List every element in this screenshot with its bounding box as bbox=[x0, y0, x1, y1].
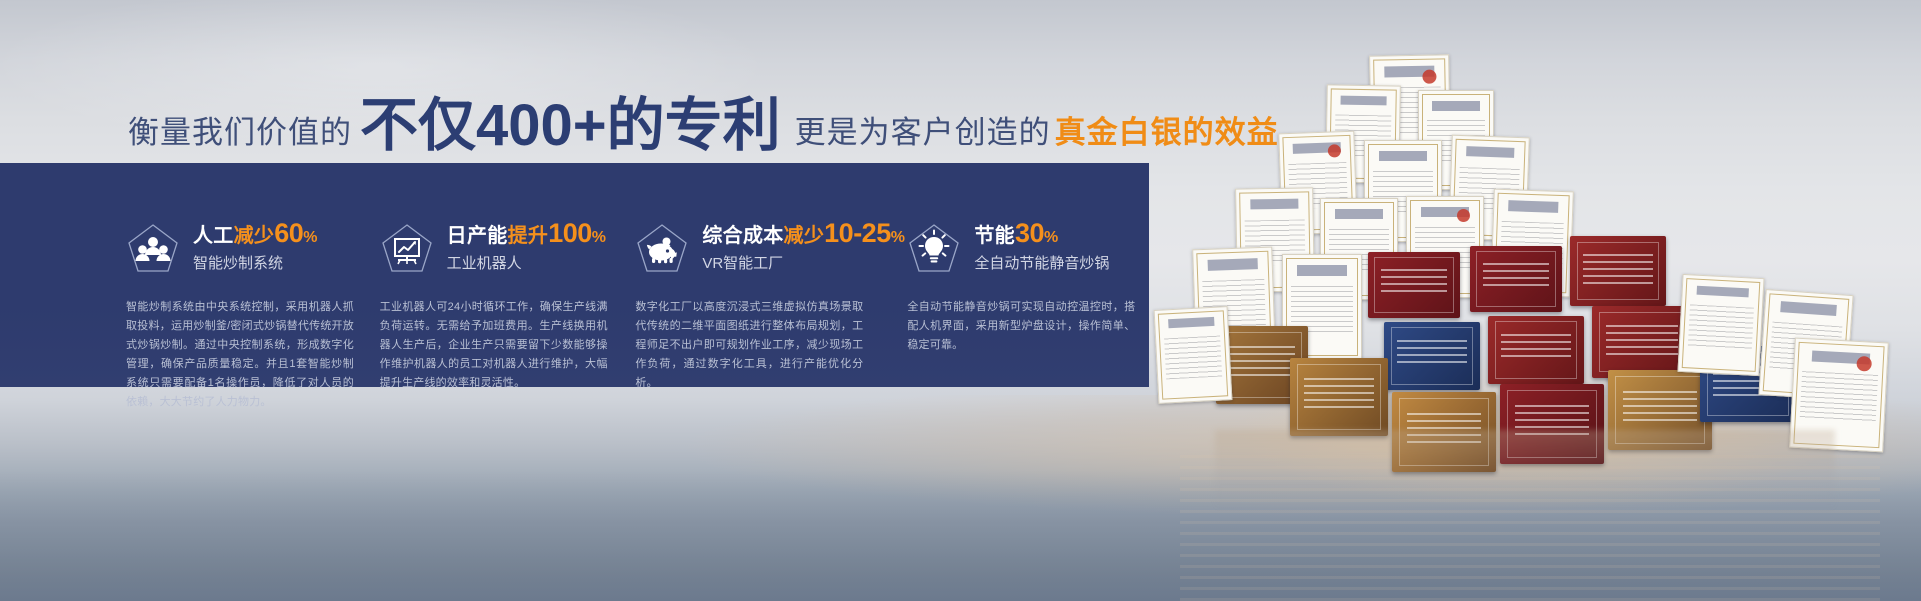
feature-body: 工业机器人可24小时循环工作，确保生产线满负荷运转。无需给予加班费用。生产线换用… bbox=[380, 298, 608, 393]
feature-title-prefix: 人工 bbox=[193, 225, 234, 247]
feature-title: 日产能提升100% bbox=[447, 221, 607, 250]
feature-header: 人工减少60% 智能炒制系统 bbox=[126, 218, 368, 280]
feature-title: 人工减少60% bbox=[193, 221, 318, 250]
feature-title-prefix: 日产能 bbox=[447, 225, 508, 247]
chart-presentation-icon bbox=[380, 222, 434, 276]
feature-title-percent: % bbox=[303, 229, 318, 246]
feature-title-percent: % bbox=[1044, 229, 1059, 246]
headline-prefix: 衡量我们价值的 bbox=[128, 107, 352, 152]
feature-header: 综合成本减少10-25% VR智能工厂 bbox=[635, 218, 893, 280]
feature-item-energy: 节能30% 全自动节能静音炒锅 全自动节能静音炒锅可实现自动控温控时，搭配人机界… bbox=[907, 163, 1149, 387]
award-plaque bbox=[1488, 316, 1584, 384]
award-plaque bbox=[1368, 252, 1460, 318]
feature-item-cost: 综合成本减少10-25% VR智能工厂 数字化工厂以高度沉浸式三维虚拟仿真场景取… bbox=[635, 163, 893, 387]
feature-titles: 日产能提升100% 工业机器人 bbox=[447, 221, 607, 278]
feature-subtitle: VR智能工厂 bbox=[702, 252, 905, 276]
feature-title-prefix: 节能 bbox=[974, 225, 1015, 247]
certificate bbox=[1677, 274, 1764, 376]
feature-header: 节能30% 全自动节能静音炒锅 bbox=[907, 218, 1149, 280]
certificate-award-pyramid bbox=[1140, 40, 1921, 480]
piggy-bank-icon bbox=[635, 222, 689, 276]
feature-title-prefix: 综合成本 bbox=[702, 225, 783, 247]
award-plaque bbox=[1470, 246, 1562, 312]
promo-banner: 衡量我们价值的 不仅400+的专利 更是为客户创造的 真金白银的效益 bbox=[0, 0, 1921, 601]
feature-title: 节能30% bbox=[974, 221, 1109, 250]
feature-title-emphasis: 减少 bbox=[784, 225, 825, 247]
feature-titles: 综合成本减少10-25% VR智能工厂 bbox=[702, 221, 905, 278]
feature-title-emphasis: 提升 bbox=[508, 225, 549, 247]
feature-title-percent: % bbox=[891, 229, 906, 246]
headline: 衡量我们价值的 不仅400+的专利 更是为客户创造的 真金白银的效益 bbox=[128, 76, 1279, 140]
feature-title-number: 100 bbox=[548, 218, 592, 248]
lightbulb-icon bbox=[907, 222, 961, 276]
feature-title-percent: % bbox=[592, 229, 607, 246]
feature-item-labor: 人工减少60% 智能炒制系统 智能炒制系统由中央系统控制，采用机器人抓取投料，运… bbox=[126, 163, 368, 387]
feature-title-number: 60 bbox=[274, 218, 303, 248]
award-plaque bbox=[1384, 322, 1480, 390]
feature-title-number: 30 bbox=[1015, 218, 1044, 248]
people-group-icon bbox=[126, 222, 180, 276]
feature-subtitle: 智能炒制系统 bbox=[193, 252, 318, 276]
feature-body: 智能炒制系统由中央系统控制，采用机器人抓取投料，运用炒制釜/密闭式炒锅替代传统开… bbox=[126, 298, 354, 412]
feature-subtitle: 全自动节能静音炒锅 bbox=[974, 252, 1109, 276]
feature-titles: 节能30% 全自动节能静音炒锅 bbox=[974, 221, 1109, 278]
award-plaque bbox=[1570, 236, 1666, 306]
feature-item-capacity: 日产能提升100% 工业机器人 工业机器人可24小时循环工作，确保生产线满负荷运… bbox=[380, 163, 622, 387]
feature-title-number: 10-25 bbox=[824, 218, 891, 248]
feature-subtitle: 工业机器人 bbox=[447, 252, 607, 276]
feature-header: 日产能提升100% 工业机器人 bbox=[380, 218, 622, 280]
award-plaque bbox=[1290, 358, 1388, 436]
feature-titles: 人工减少60% 智能炒制系统 bbox=[193, 221, 318, 278]
feature-list: 人工减少60% 智能炒制系统 智能炒制系统由中央系统控制，采用机器人抓取投料，运… bbox=[0, 163, 1149, 387]
certificate bbox=[1154, 306, 1233, 404]
feature-title: 综合成本减少10-25% bbox=[702, 221, 905, 250]
feature-title-emphasis: 减少 bbox=[234, 225, 275, 247]
feature-body: 数字化工厂以高度沉浸式三维虚拟仿真场景取代传统的二维平面图纸进行整体布局规划，工… bbox=[635, 298, 863, 393]
headline-middle: 更是为客户创造的 bbox=[795, 107, 1051, 152]
feature-body: 全自动节能静音炒锅可实现自动控温控时，搭配人机界面，采用新型炉盘设计，操作简单、… bbox=[907, 298, 1135, 355]
certificate-reflection bbox=[1215, 430, 1835, 510]
headline-emphasis: 不仅400+的专利 bbox=[360, 78, 781, 162]
